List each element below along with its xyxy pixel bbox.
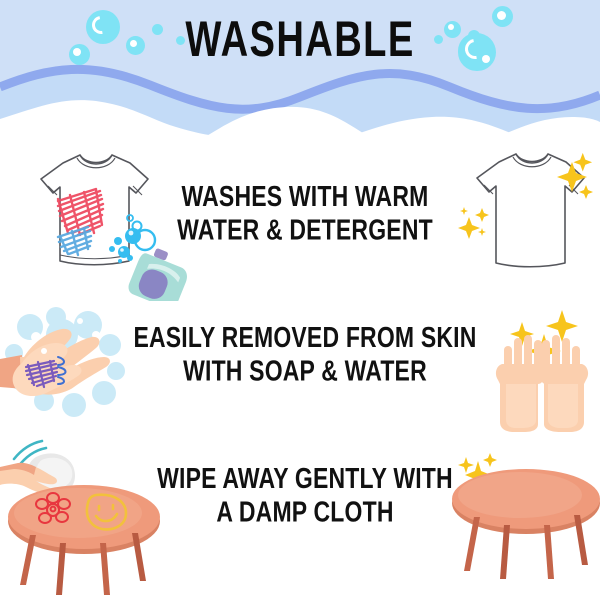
header-banner: WASHABLE	[0, 0, 600, 135]
row-wash-line2: WATER & DETERGENT	[167, 214, 443, 248]
clean-table-icon	[440, 435, 600, 600]
row-wash-line1: WASHES WITH WARM	[167, 180, 443, 214]
row-wash-text: WASHES WITH WARM WATER & DETERGENT	[167, 180, 443, 247]
row-skin-line1: EASILY REMOVED FROM SKIN	[130, 321, 480, 355]
row-skin-line2: WITH SOAP & WATER	[130, 355, 480, 389]
row-surface-text: WIPE AWAY GENTLY WITH A DAMP CLOTH	[153, 462, 457, 529]
dirty-table-icon	[0, 435, 170, 600]
infographic-page: WASHABLE	[0, 0, 600, 600]
stained-tshirt-icon	[8, 141, 193, 301]
clean-hands-icon	[484, 300, 600, 435]
row-wash: WASHES WITH WARM WATER & DETERGENT	[0, 135, 600, 295]
wave-decoration	[0, 57, 600, 135]
page-title: WASHABLE	[21, 11, 579, 68]
row-skin-text: EASILY REMOVED FROM SKIN WITH SOAP & WAT…	[130, 321, 480, 388]
row-skin: EASILY REMOVED FROM SKIN WITH SOAP & WAT…	[0, 300, 600, 440]
washing-hands-icon	[0, 305, 140, 425]
row-surface-line1: WIPE AWAY GENTLY WITH	[153, 462, 457, 496]
clean-tshirt-icon	[455, 135, 600, 295]
row-surface: WIPE AWAY GENTLY WITH A DAMP CLOTH	[0, 435, 600, 600]
detergent-bottle-icon	[126, 243, 193, 301]
row-surface-line2: A DAMP CLOTH	[153, 496, 457, 530]
